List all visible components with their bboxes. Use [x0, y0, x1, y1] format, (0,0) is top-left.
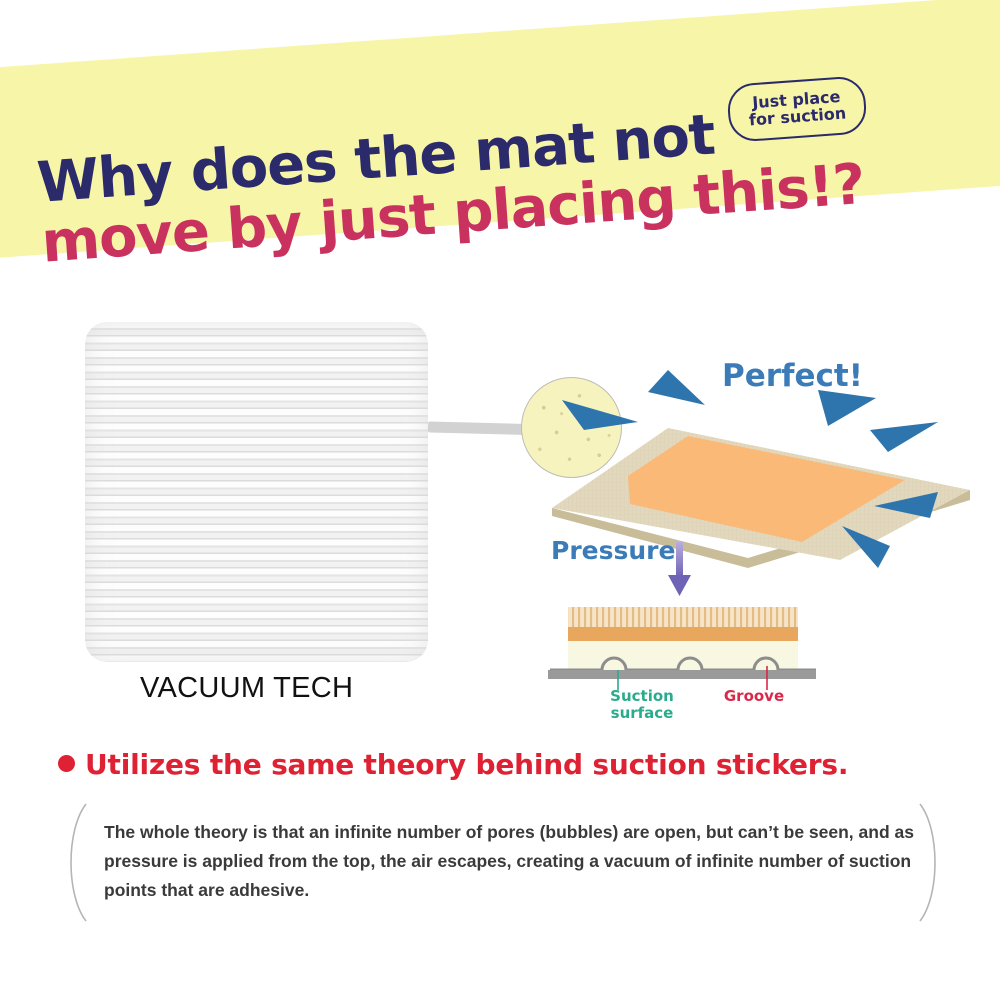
cs-layer-orange — [568, 627, 798, 641]
suction-surface-label-line1: Suction — [600, 688, 684, 705]
left-parenthesis-icon — [58, 800, 92, 925]
vacuum-tech-mat-photo — [85, 322, 428, 662]
arrow-top-right — [818, 390, 876, 426]
description-text: The whole theory is that an infinite num… — [104, 818, 914, 905]
cross-section-diagram — [530, 530, 870, 730]
suction-surface-label: Suction surface — [600, 688, 684, 722]
description-box: The whole theory is that an infinite num… — [58, 800, 948, 925]
footer-heading: Utilizes the same theory behind suction … — [85, 748, 848, 781]
cs-layer-texture — [568, 607, 798, 627]
mat-caption: VACUUM TECH — [140, 672, 353, 705]
right-parenthesis-icon — [914, 800, 948, 925]
cs-base-surface — [548, 670, 816, 679]
bullet-dot-icon — [58, 755, 75, 772]
badge-line-2: for suction — [748, 106, 846, 130]
just-place-for-suction-badge: Just place for suction — [726, 75, 868, 143]
perfect-label: Perfect! — [722, 358, 863, 394]
groove-label: Groove — [715, 688, 793, 705]
pressure-down-arrow — [668, 542, 691, 596]
arrow-top-left — [648, 370, 705, 405]
suction-surface-label-line2: surface — [600, 705, 684, 722]
arrow-left-top — [562, 400, 638, 430]
arrow-right-top — [870, 422, 938, 452]
